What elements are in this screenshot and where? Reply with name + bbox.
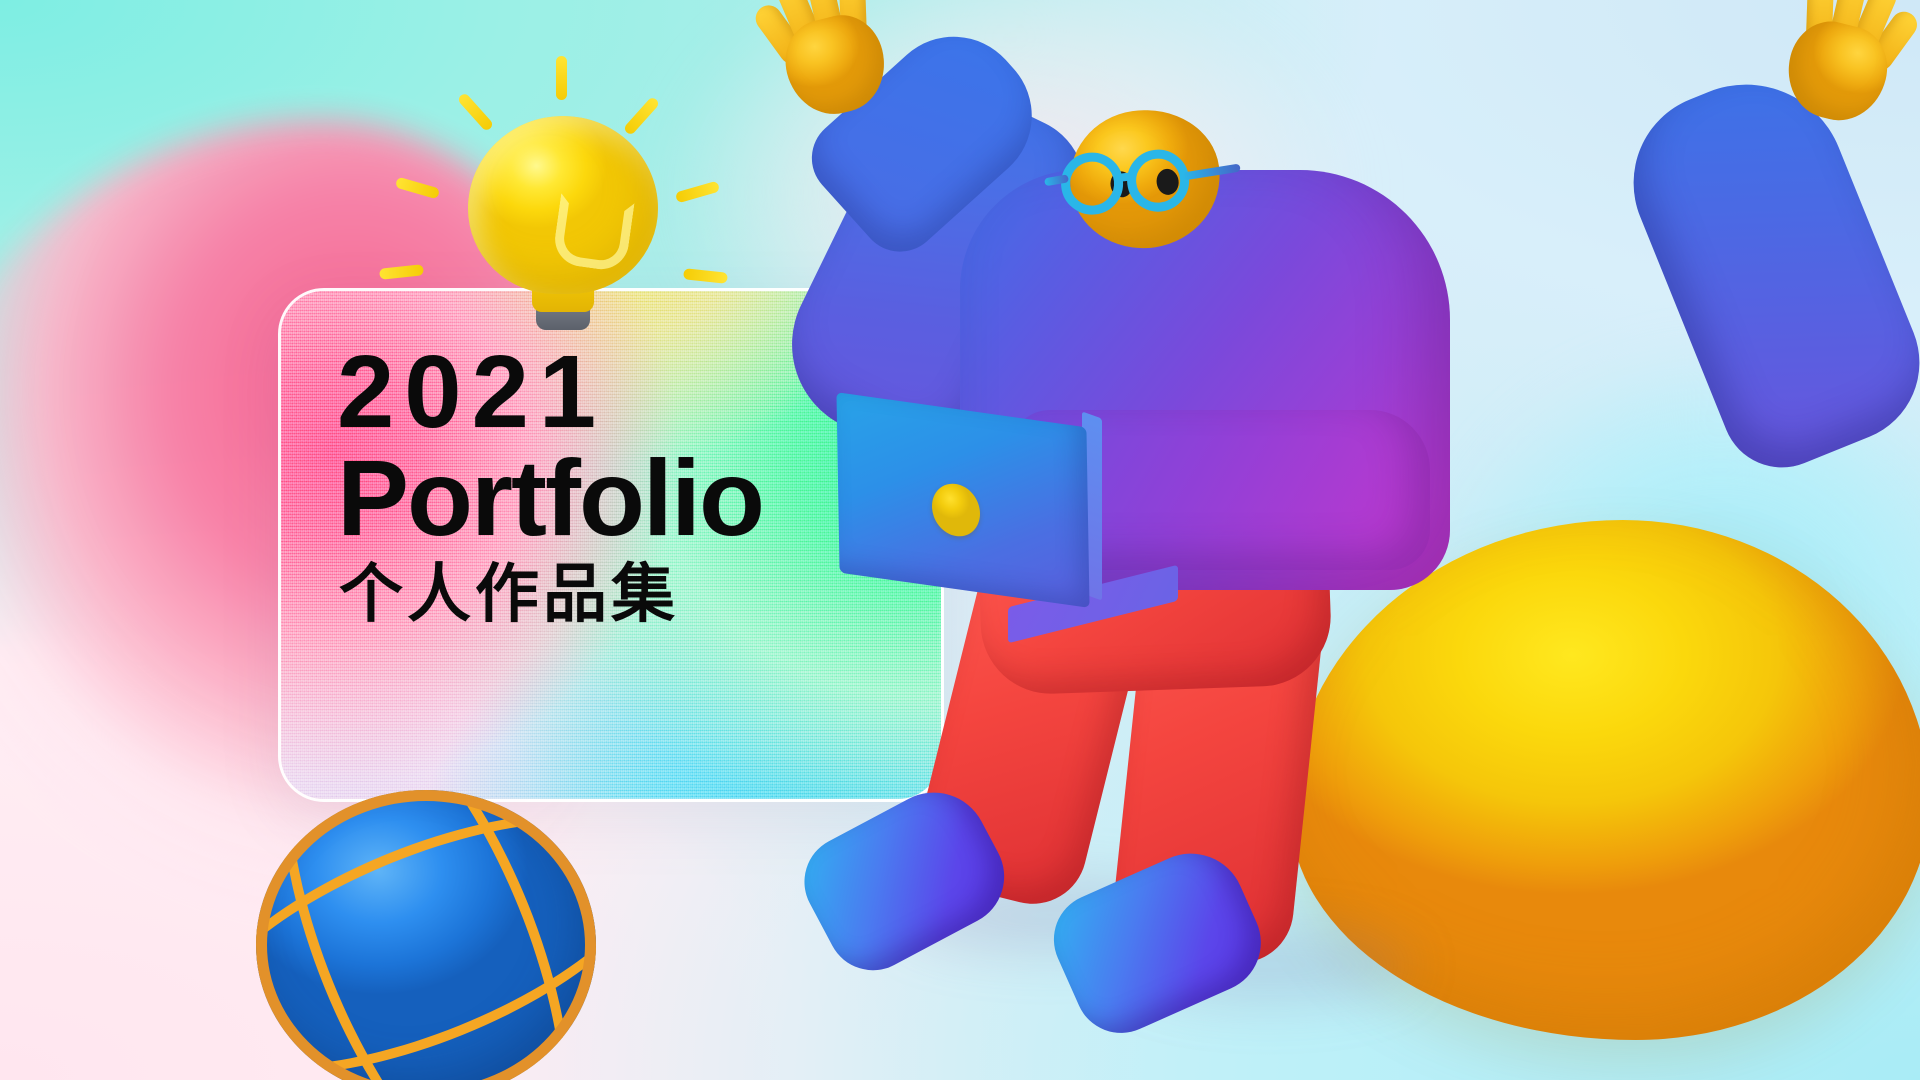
wireframe-globe-icon	[256, 790, 596, 1080]
lightbulb-ray	[623, 96, 661, 136]
lightbulb-filament	[551, 193, 634, 273]
poster-year: 2021	[337, 343, 763, 442]
poster-subtitle-chinese: 个人作品集	[339, 560, 763, 629]
card-text-block: 2021 Portfolio 个人作品集	[337, 343, 763, 629]
laptop	[838, 410, 1168, 630]
lightbulb-glass	[468, 116, 658, 294]
seated-character	[830, 0, 1920, 1080]
portfolio-poster: 2021 Portfolio 个人作品集	[0, 0, 1920, 1080]
idea-lightbulb-icon	[448, 98, 678, 318]
globe-outer-ring	[256, 790, 596, 1080]
lightbulb-ray	[556, 56, 567, 100]
poster-title: Portfolio	[337, 444, 763, 552]
lightbulb-ray	[457, 92, 495, 132]
